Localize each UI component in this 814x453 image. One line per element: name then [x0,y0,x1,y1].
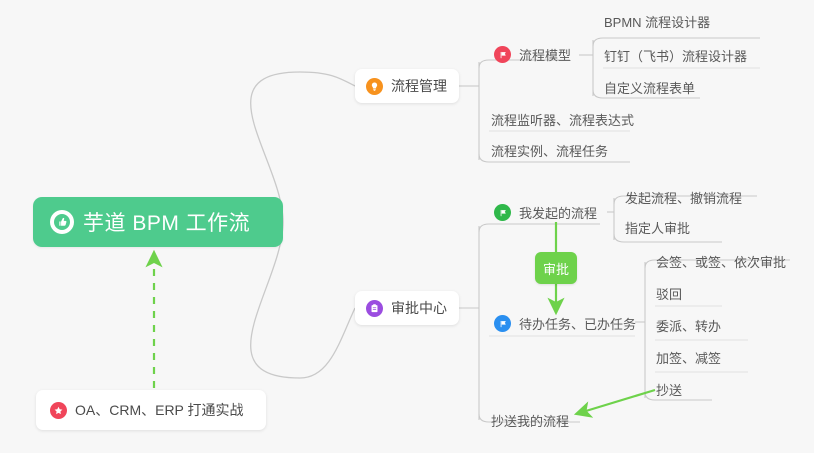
approval-pill[interactable]: 审批 [535,252,577,284]
node-flow-management[interactable]: 流程管理 [355,69,459,103]
leaf-multi-sign-label: 会签、或签、依次审批 [656,252,786,271]
leaf-flow-instance-task-label: 流程实例、流程任务 [491,141,608,160]
leaf-flow-model-label: 流程模型 [519,45,571,64]
arrow-cc-to-my-cc-flows [576,390,655,414]
leaf-dingtalk-feishu-designer[interactable]: 钉钉（飞书）流程设计器 [604,46,747,67]
root-label: 芋道 BPM 工作流 [83,207,250,237]
leaf-multi-sign[interactable]: 会签、或签、依次审批 [656,252,786,273]
bracket-flow-model-top-cap [593,38,760,46]
leaf-assignee-approval[interactable]: 指定人审批 [625,218,690,239]
leaf-add-remove-sign[interactable]: 加签、减签 [656,348,721,369]
node-integration-label: OA、CRM、ERP 打通实战 [75,400,244,420]
approval-pill-label: 审批 [543,259,569,278]
leaf-flow-model[interactable]: 流程模型 [494,45,571,66]
leaf-todo-done-tasks[interactable]: 待办任务、已办任务 [494,314,636,335]
mindmap-canvas: 芋道 BPM 工作流 流程管理 审批中心 [0,0,814,453]
node-approval-center-label: 审批中心 [391,298,447,318]
clipboard-icon [366,300,383,317]
leaf-custom-flow-form[interactable]: 自定义流程表单 [604,78,695,99]
leaf-my-initiated-flows-label: 我发起的流程 [519,203,597,222]
leaf-flow-listener-expression-label: 流程监听器、流程表达式 [491,110,634,129]
node-approval-center[interactable]: 审批中心 [355,291,459,325]
leaf-flow-instance-task[interactable]: 流程实例、流程任务 [491,141,608,162]
leaf-reject[interactable]: 驳回 [656,284,682,305]
leaf-delegate-transfer[interactable]: 委派、转办 [656,316,721,337]
leaf-cc-to-me-flows-label: 抄送我的流程 [491,411,569,430]
leaf-delegate-transfer-label: 委派、转办 [656,316,721,335]
star-icon [50,402,67,419]
leaf-add-remove-sign-label: 加签、减签 [656,348,721,367]
leaf-start-cancel-flow-label: 发起流程、撤销流程 [625,188,742,207]
flag-icon [494,46,511,63]
leaf-cc-label: 抄送 [656,380,682,399]
leaf-todo-done-tasks-label: 待办任务、已办任务 [519,314,636,333]
leaf-dingtalk-feishu-designer-label: 钉钉（飞书）流程设计器 [604,46,747,65]
bracket-approval-center-top-cap [479,224,600,232]
leaf-custom-flow-form-label: 自定义流程表单 [604,78,695,97]
lightbulb-icon [366,78,383,95]
leaf-flow-listener-expression[interactable]: 流程监听器、流程表达式 [491,110,634,131]
leaf-assignee-approval-label: 指定人审批 [625,218,690,237]
leaf-my-initiated-flows[interactable]: 我发起的流程 [494,203,597,224]
leaf-reject-label: 驳回 [656,284,682,303]
leaf-bpmn-designer[interactable]: BPMN 流程设计器 [604,12,710,33]
node-integration[interactable]: OA、CRM、ERP 打通实战 [36,390,266,430]
leaf-cc-to-me-flows[interactable]: 抄送我的流程 [491,411,569,432]
thumbs-up-icon [50,210,74,234]
leaf-start-cancel-flow[interactable]: 发起流程、撤销流程 [625,188,742,209]
root-node[interactable]: 芋道 BPM 工作流 [33,197,283,247]
node-flow-management-label: 流程管理 [391,76,447,96]
flag-icon [494,315,511,332]
flag-icon [494,204,511,221]
leaf-bpmn-designer-label: BPMN 流程设计器 [604,12,710,31]
leaf-cc[interactable]: 抄送 [656,380,682,401]
